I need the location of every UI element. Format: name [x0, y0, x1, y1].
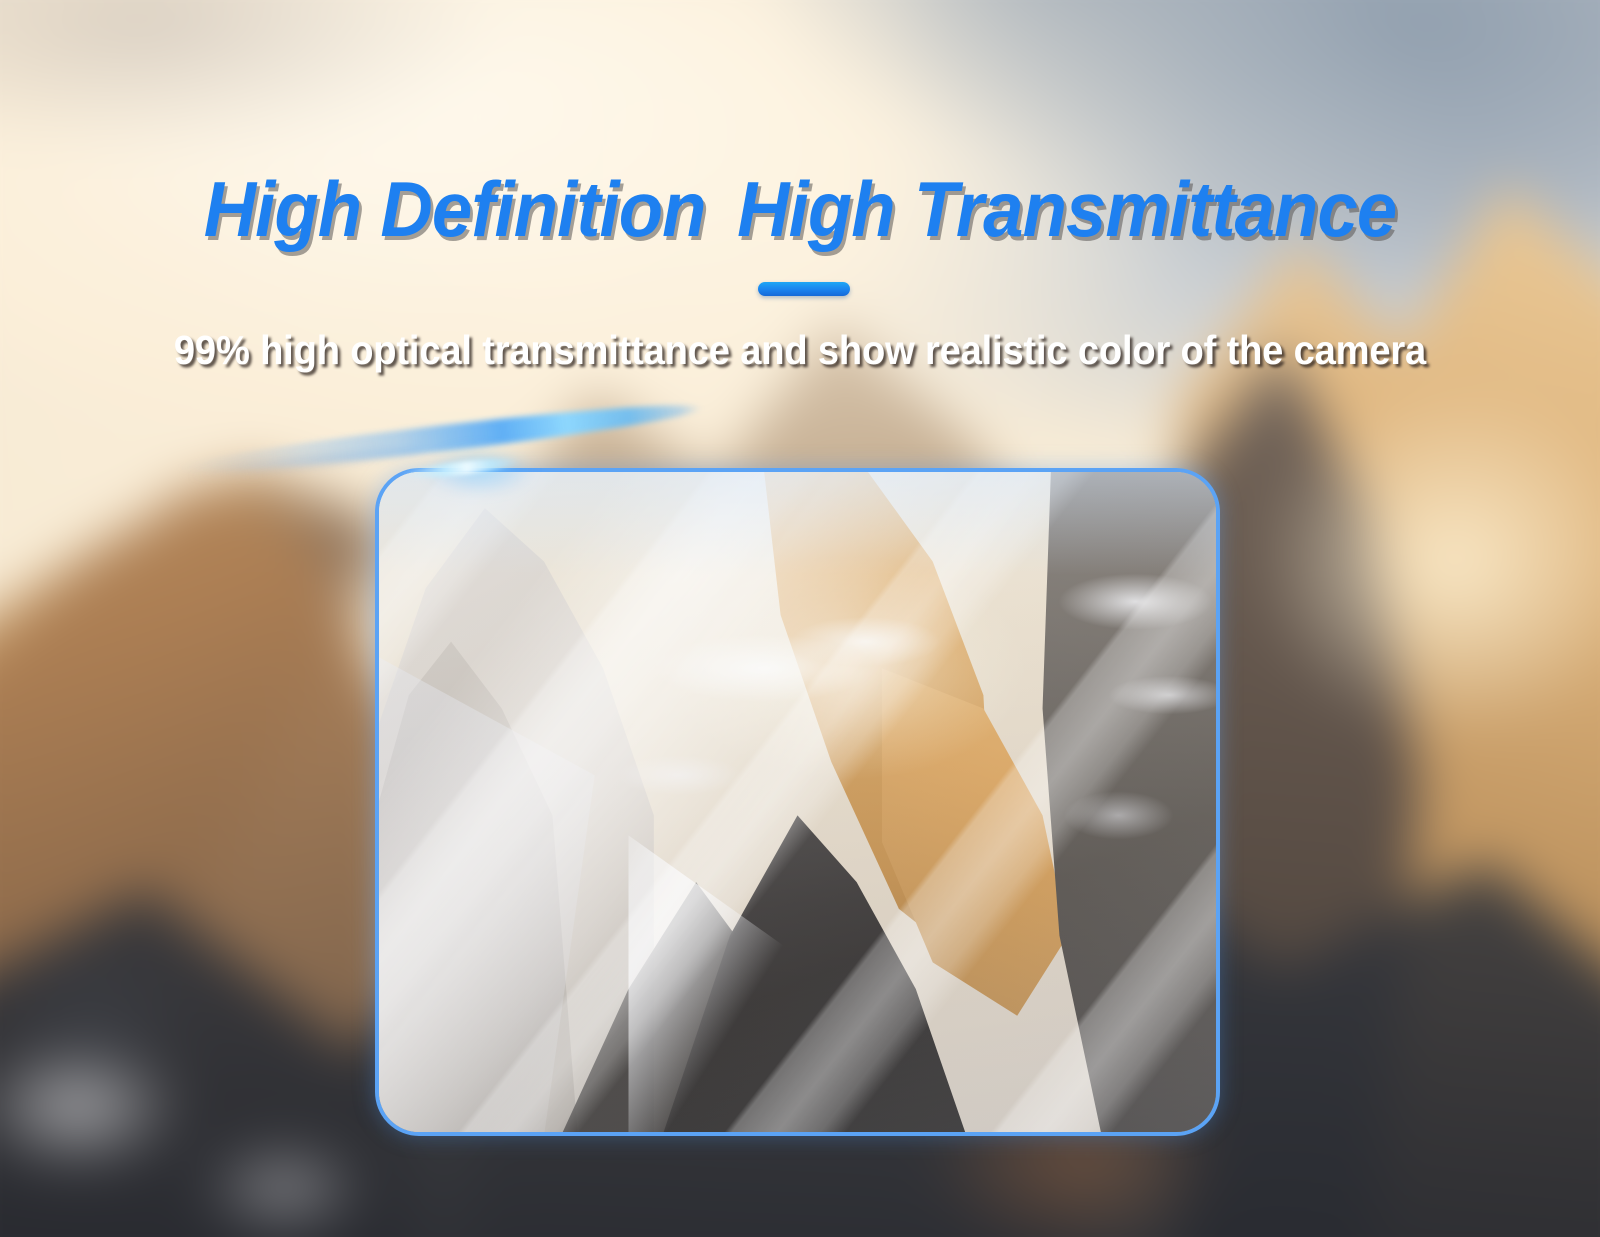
panel-inner-image	[375, 468, 1220, 1136]
product-feature-banner: High DefinitionHigh Transmittance 99% hi…	[0, 0, 1600, 1237]
screen-protector-glass-panel	[375, 468, 1220, 1136]
page-title: High DefinitionHigh Transmittance	[56, 164, 1544, 255]
title-divider-bar	[758, 282, 850, 296]
headline-part-one: High Definition	[204, 165, 706, 253]
subtitle-text: 99% high optical transmittance and show …	[56, 327, 1544, 374]
panel-top-edge-glow	[375, 468, 1220, 1136]
headline-part-two: High Transmittance	[737, 165, 1396, 253]
